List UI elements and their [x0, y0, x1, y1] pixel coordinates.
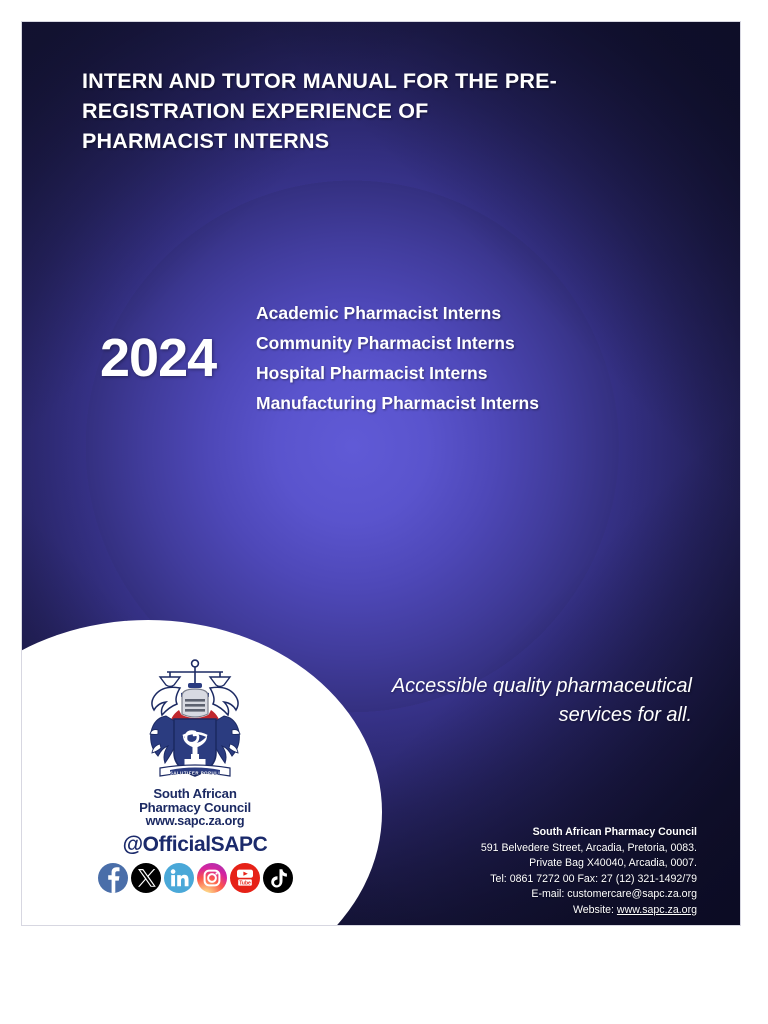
council-url[interactable]: www.sapc.za.org: [80, 814, 310, 829]
cover-panel: INTERN AND TUTOR MANUAL FOR THE PRE- REG…: [22, 22, 740, 925]
youtube-glyph: Tube: [230, 863, 260, 893]
list-item: Manufacturing Pharmacist Interns: [256, 388, 539, 418]
linkedin-icon[interactable]: [164, 863, 194, 893]
contact-postal: Private Bag X40040, Arcadia, 0007.: [481, 856, 697, 872]
title-line-2: REGISTRATION EXPERIENCE OF: [82, 96, 682, 126]
tagline: Accessible quality pharmaceutical servic…: [320, 672, 692, 730]
year-and-audience: 2024 Academic Pharmacist Interns Communi…: [100, 298, 539, 418]
list-item: Hospital Pharmacist Interns: [256, 358, 539, 388]
logo-group: SALUTIFER POPULI South African Pharmacy …: [80, 658, 310, 893]
council-name-line-1: South African: [80, 787, 310, 801]
year-label: 2024: [100, 331, 256, 385]
council-name: South African Pharmacy Council: [80, 787, 310, 814]
facebook-icon[interactable]: [98, 863, 128, 893]
contact-website-link[interactable]: www.sapc.za.org: [617, 904, 697, 916]
audience-list: Academic Pharmacist Interns Community Ph…: [256, 298, 539, 418]
contact-block: South African Pharmacy Council 591 Belve…: [481, 825, 697, 918]
instagram-icon[interactable]: [197, 863, 227, 893]
tagline-line-1: Accessible quality pharmaceutical: [320, 672, 692, 701]
linkedin-glyph: [164, 863, 194, 893]
tiktok-icon[interactable]: [263, 863, 293, 893]
sapc-coat-of-arms-icon: SALUTIFER POPULI: [136, 658, 254, 786]
title-line-3: PHARMACIST INTERNS: [82, 126, 682, 156]
x-twitter-icon[interactable]: [131, 863, 161, 893]
social-handle: @OfficialSAPC: [80, 833, 310, 857]
list-item: Community Pharmacist Interns: [256, 328, 539, 358]
contact-email: E-mail: customercare@sapc.za.org: [481, 887, 697, 903]
contact-phone: Tel: 0861 7272 00 Fax: 27 (12) 321-1492/…: [481, 872, 697, 888]
list-item: Academic Pharmacist Interns: [256, 298, 539, 328]
page-title: INTERN AND TUTOR MANUAL FOR THE PRE- REG…: [82, 66, 682, 156]
svg-text:Tube: Tube: [239, 880, 251, 886]
youtube-icon[interactable]: Tube: [230, 863, 260, 893]
contact-website: Website: www.sapc.za.org: [481, 903, 697, 919]
x-glyph: [131, 863, 161, 893]
svg-text:SALUTIFER POPULI: SALUTIFER POPULI: [170, 770, 220, 775]
contact-website-label: Website:: [573, 904, 617, 916]
tagline-line-2: services for all.: [320, 701, 692, 730]
document-page: INTERN AND TUTOR MANUAL FOR THE PRE- REG…: [0, 0, 768, 1024]
contact-street: 591 Belvedere Street, Arcadia, Pretoria,…: [481, 841, 697, 857]
facebook-glyph: [98, 863, 128, 893]
social-icon-row: Tube: [80, 863, 310, 893]
tiktok-glyph: [263, 863, 293, 893]
contact-organisation: South African Pharmacy Council: [481, 825, 697, 841]
title-line-1: INTERN AND TUTOR MANUAL FOR THE PRE-: [82, 66, 682, 96]
instagram-glyph: [197, 863, 227, 893]
council-name-line-2: Pharmacy Council: [80, 801, 310, 815]
